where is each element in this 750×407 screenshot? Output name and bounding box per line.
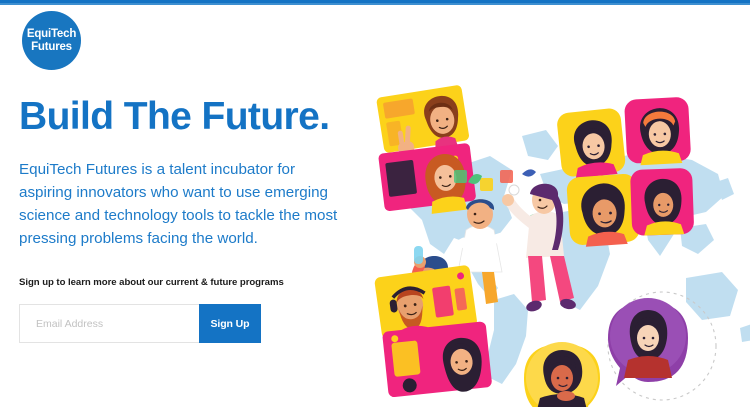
equitech-futures-logo[interactable]: EquiTech Futures: [22, 11, 81, 70]
top-accent-bar: [0, 0, 750, 5]
email-field[interactable]: [19, 304, 199, 343]
signup-caption: Sign up to learn more about our current …: [19, 277, 364, 288]
video-card-pink-bottom: [382, 321, 493, 399]
sign-up-button[interactable]: Sign Up: [199, 304, 261, 343]
portrait-card-yellow-lower: [566, 173, 641, 248]
global-community-illustration: [362, 78, 750, 407]
signup-form: Sign Up: [19, 304, 261, 343]
page-title: Build The Future.: [19, 96, 364, 138]
top-accent-bar-highlight: [0, 3, 750, 5]
hero-content: Build The Future. EquiTech Futures is a …: [19, 96, 364, 343]
portrait-card-yellow-left: [556, 107, 627, 179]
portrait-card-pink-right: [624, 97, 691, 166]
landing-page: EquiTech Futures Build The Future. EquiT…: [0, 0, 750, 407]
logo-line-1: EquiTech: [27, 28, 76, 41]
portrait-card-pink-lower: [630, 168, 694, 236]
speech-bubble-yellow: [524, 342, 600, 407]
speech-bubble-purple: [608, 298, 688, 386]
hero-paragraph: EquiTech Futures is a talent incubator f…: [19, 158, 349, 250]
logo-line-2: Futures: [31, 41, 72, 54]
